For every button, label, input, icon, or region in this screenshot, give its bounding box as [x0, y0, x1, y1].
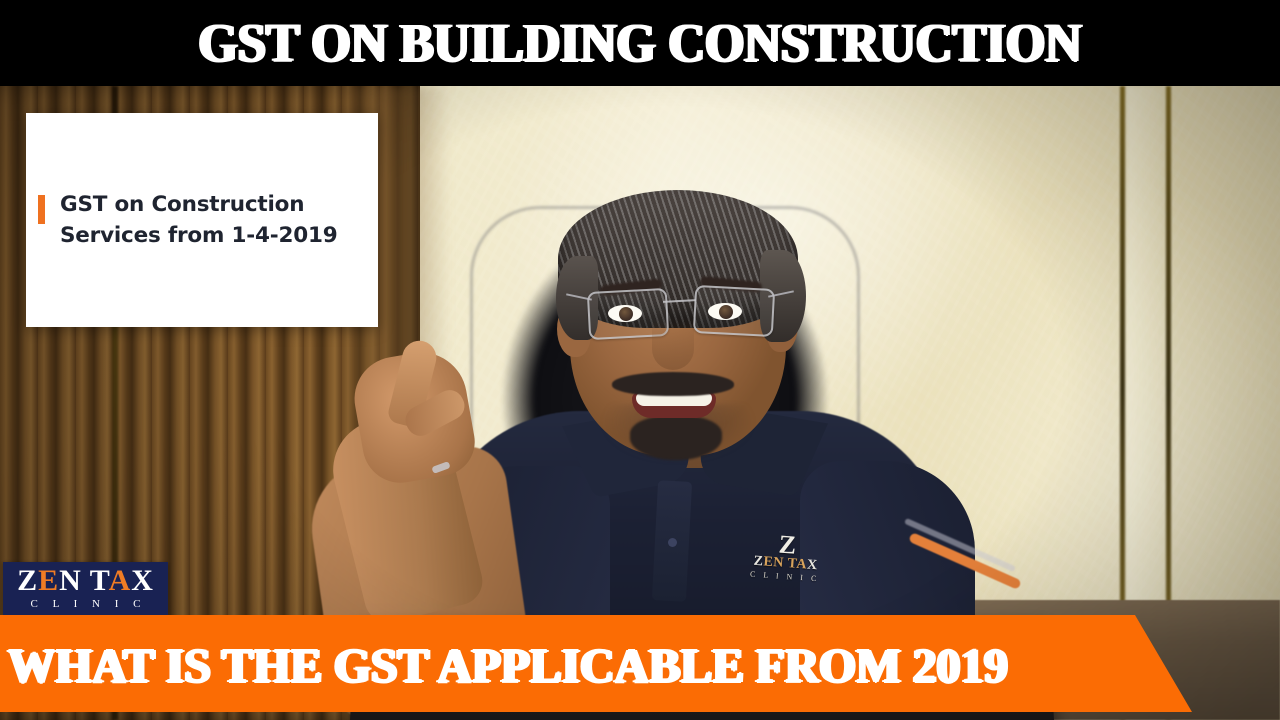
brand-logo-subtitle: C L I N I C — [3, 597, 168, 611]
bottom-title-banner: WHAT IS THE GST APPLICABLE FROM 2019 — [0, 615, 1200, 720]
brand-letter-z: Z — [17, 564, 38, 597]
bottom-banner-title: WHAT IS THE GST APPLICABLE FROM 2019 — [0, 640, 1008, 692]
brand-logo-wordmark: ZEN TAX — [3, 564, 168, 597]
eyeglasses-lens-right — [693, 285, 775, 337]
presenter-nose — [652, 318, 694, 370]
polo-button — [668, 538, 677, 547]
video-thumbnail: Z ZEN TAX C L I N I C — [0, 0, 1280, 720]
brand-letter-t: T — [90, 564, 109, 597]
top-title-banner: GST ON BUILDING CONSTRUCTION — [0, 0, 1280, 86]
brand-letter-n: N — [59, 564, 82, 597]
brand-letter-x: X — [131, 564, 154, 597]
brand-logo-watermark: ZEN TAX C L I N I C — [3, 562, 168, 615]
top-banner-title: GST ON BUILDING CONSTRUCTION — [198, 14, 1081, 72]
slide-card-text: GST on Construction Services from 1-4-20… — [60, 189, 337, 251]
slide-card-body: GST on Construction Services from 1-4-20… — [26, 189, 349, 251]
slide-bullet-marker — [38, 195, 45, 224]
presentation-slide-card: GST on Construction Services from 1-4-20… — [26, 113, 378, 327]
brand-letter-e: E — [38, 564, 59, 597]
brand-space — [82, 564, 90, 597]
brand-letter-a: A — [109, 564, 132, 597]
presenter-goatee — [630, 416, 722, 460]
shirt-embroidered-logo: Z ZEN TAX C L I N I C — [736, 531, 835, 586]
presenter-mustache — [612, 372, 734, 396]
shirt-logo-name-part3: X — [806, 557, 818, 573]
